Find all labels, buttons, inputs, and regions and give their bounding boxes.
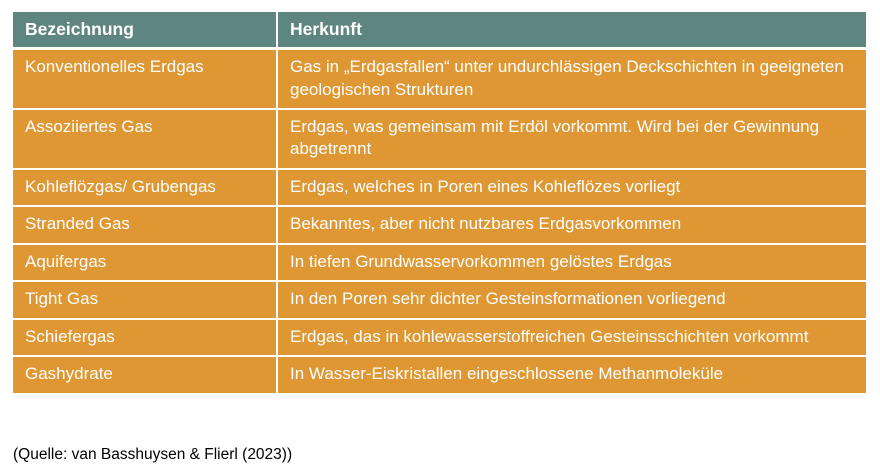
gas-types-table: Bezeichnung Herkunft Konventionelles Erd…	[13, 12, 866, 393]
table-header: Bezeichnung Herkunft	[13, 12, 866, 50]
column-header-herkunft: Herkunft	[278, 12, 866, 50]
table-row: Konventionelles Erdgas Gas in „Erdgasfal…	[13, 50, 866, 110]
cell-herkunft: In den Poren sehr dichter Gesteinsformat…	[278, 282, 866, 319]
cell-herkunft: Erdgas, was gemeinsam mit Erdöl vorkommt…	[278, 110, 866, 170]
table-row: Schiefergas Erdgas, das in kohlewasserst…	[13, 320, 866, 357]
cell-bezeichnung: Gashydrate	[13, 357, 278, 392]
cell-herkunft: In tiefen Grundwasservorkommen gelöstes …	[278, 245, 866, 282]
cell-herkunft: Erdgas, das in kohlewasserstoffreichen G…	[278, 320, 866, 357]
cell-bezeichnung: Konventionelles Erdgas	[13, 50, 278, 110]
gas-types-table-container: Bezeichnung Herkunft Konventionelles Erd…	[13, 12, 866, 393]
cell-bezeichnung: Schiefergas	[13, 320, 278, 357]
cell-bezeichnung: Aquifergas	[13, 245, 278, 282]
table-row: Aquifergas In tiefen Grundwasservorkomme…	[13, 245, 866, 282]
document-page: Bezeichnung Herkunft Konventionelles Erd…	[0, 0, 880, 470]
cell-herkunft: Bekanntes, aber nicht nutzbares Erdgasvo…	[278, 207, 866, 244]
table-row: Stranded Gas Bekanntes, aber nicht nutzb…	[13, 207, 866, 244]
table-row: Gashydrate In Wasser-Eiskristallen einge…	[13, 357, 866, 392]
cell-bezeichnung: Assoziiertes Gas	[13, 110, 278, 170]
cell-bezeichnung: Stranded Gas	[13, 207, 278, 244]
table-body: Konventionelles Erdgas Gas in „Erdgasfal…	[13, 50, 866, 392]
column-header-bezeichnung: Bezeichnung	[13, 12, 278, 50]
cell-herkunft: Gas in „Erdgasfallen“ unter undurchlässi…	[278, 50, 866, 110]
table-row: Kohleflözgas/ Grubengas Erdgas, welches …	[13, 170, 866, 207]
table-header-row: Bezeichnung Herkunft	[13, 12, 866, 50]
cell-herkunft: Erdgas, welches in Poren eines Kohleflöz…	[278, 170, 866, 207]
source-caption: (Quelle: van Basshuysen & Flierl (2023))	[13, 446, 292, 465]
cell-herkunft: In Wasser-Eiskristallen eingeschlossene …	[278, 357, 866, 392]
table-row: Assoziiertes Gas Erdgas, was gemeinsam m…	[13, 110, 866, 170]
cell-bezeichnung: Kohleflözgas/ Grubengas	[13, 170, 278, 207]
table-row: Tight Gas In den Poren sehr dichter Gest…	[13, 282, 866, 319]
cell-bezeichnung: Tight Gas	[13, 282, 278, 319]
